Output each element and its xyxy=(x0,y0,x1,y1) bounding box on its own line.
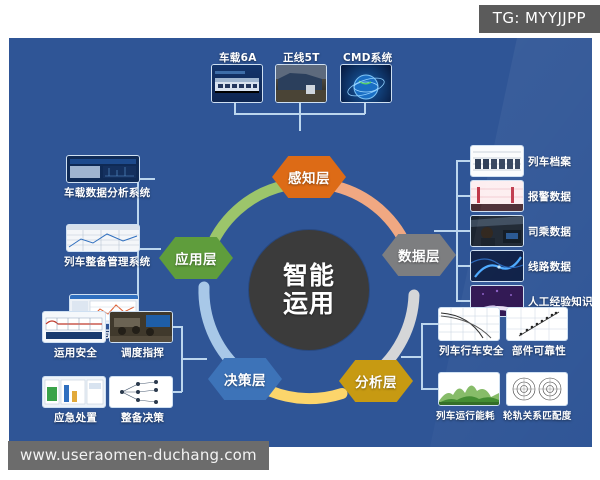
train-icon xyxy=(212,65,262,102)
thumbnail-component-reliability xyxy=(506,307,568,341)
connector-br-stem xyxy=(401,356,423,358)
connector-left-stem xyxy=(137,248,161,250)
connector-right-stem xyxy=(434,230,458,232)
node-label: 感知层 xyxy=(288,167,330,187)
thumbnail-art xyxy=(471,251,523,281)
curve-chart-icon xyxy=(439,308,499,340)
connector-top-stem xyxy=(299,113,301,131)
watermark-url: www.useraomen-duchang.com xyxy=(8,441,269,471)
thumbnail-train-running-safety xyxy=(438,307,500,341)
thumbnail-train-archive xyxy=(470,145,524,177)
radar-chart-icon xyxy=(507,373,567,405)
control-room-icon xyxy=(110,312,172,342)
ring-segment-yellow-arc xyxy=(270,391,342,399)
area-chart-icon xyxy=(439,373,499,405)
thumbnail-cmd-system xyxy=(340,64,392,103)
thumbnail-train-servicing-mgmt xyxy=(66,224,140,252)
thumbnail-art xyxy=(110,312,172,342)
caption-servicing-decision: 整备决策 xyxy=(121,410,164,425)
thumbnail-art xyxy=(439,308,499,340)
caption-cmd-system: CMD系统 xyxy=(343,50,392,65)
diagram-panel: 智能 运用 感知层 应用层 数据层 决策层 分析层 xyxy=(9,38,592,447)
thumbnail-art xyxy=(471,146,523,176)
caption-component-reliability: 部件可靠性 xyxy=(512,343,566,358)
thumbnail-operation-safety xyxy=(42,311,106,343)
thumbnail-emergency-response xyxy=(42,376,106,408)
center-label: 智能 运用 xyxy=(283,262,335,318)
thumbnail-onboard-6a xyxy=(211,64,263,103)
thumbnail-art xyxy=(67,225,139,251)
connector-br-1 xyxy=(421,323,439,325)
caption-operation-safety: 运用安全 xyxy=(54,345,97,360)
thumbnail-line-data xyxy=(470,250,524,282)
alarm-chart-icon xyxy=(471,181,523,211)
caption-train-archive: 列车档案 xyxy=(528,154,571,169)
thumbnail-art xyxy=(43,312,105,342)
caption-line-data: 线路数据 xyxy=(528,259,571,274)
caption-train-energy-consumption: 列车运行能耗 xyxy=(436,408,495,422)
thumbnail-art xyxy=(110,377,172,407)
node-label: 决策层 xyxy=(224,369,266,389)
connector-right-5 xyxy=(456,300,470,302)
thumbnail-art xyxy=(507,373,567,405)
caption-train-running-safety: 列车行车安全 xyxy=(439,343,504,358)
route-map-icon xyxy=(471,251,523,281)
connector-bl-stem xyxy=(181,358,207,360)
caption-crew-data: 司乘数据 xyxy=(528,224,571,239)
dashboard-icon xyxy=(43,377,105,407)
thumbnail-alarm-data xyxy=(470,180,524,212)
spreadsheet-icon xyxy=(67,225,139,251)
thumbnail-art xyxy=(276,65,326,102)
connector-right-1 xyxy=(456,160,470,162)
thumbnail-train-energy-consumption xyxy=(438,372,500,406)
caption-emergency-response: 应急处置 xyxy=(54,410,97,425)
thumbnail-art xyxy=(43,377,105,407)
caption-wheel-rail-matching: 轮轨关系匹配度 xyxy=(503,408,572,422)
thumbnail-art xyxy=(439,373,499,405)
caption-train-servicing-mgmt: 列车整备管理系统 xyxy=(64,254,150,269)
connector-right-2 xyxy=(456,195,470,197)
thumbnail-art xyxy=(212,65,262,102)
center-label-line2: 运用 xyxy=(283,290,335,318)
thumbnail-art xyxy=(507,308,567,340)
caption-onboard-data-analysis: 车载数据分析系统 xyxy=(64,185,150,200)
thumbnail-mainline-5t xyxy=(275,64,327,103)
node-label: 应用层 xyxy=(175,248,217,268)
center-circle: 智能 运用 xyxy=(249,230,369,350)
diagram-canvas: 智能 运用 感知层 应用层 数据层 决策层 分析层 xyxy=(0,0,600,480)
data-screen-icon xyxy=(67,156,139,182)
caption-dispatch-command: 调度指挥 xyxy=(121,345,164,360)
connector-right-4 xyxy=(456,265,470,267)
train-diagram-icon xyxy=(43,312,105,342)
caption-onboard-6a: 车载6A xyxy=(219,50,257,65)
thumbnail-onboard-data-analysis xyxy=(66,155,140,183)
scatter-chart-icon xyxy=(507,308,567,340)
thumbnail-art xyxy=(471,216,523,246)
thumbnail-wheel-rail-matching xyxy=(506,372,568,406)
archive-table-icon xyxy=(471,146,523,176)
decision-network-icon xyxy=(110,377,172,407)
thumbnail-crew-data xyxy=(470,215,524,247)
caption-alarm-data: 报警数据 xyxy=(528,189,571,204)
connector-br-2 xyxy=(421,388,439,390)
caption-mainline-5t: 正线5T xyxy=(283,50,320,65)
node-label: 分析层 xyxy=(355,371,397,391)
thumbnail-art xyxy=(471,181,523,211)
thumbnail-dispatch-command xyxy=(109,311,173,343)
locomotive-icon xyxy=(276,65,326,102)
cab-driver-icon xyxy=(471,216,523,246)
node-label: 数据层 xyxy=(398,245,440,265)
globe-icon xyxy=(341,65,391,102)
ring-segment-blue-arc xyxy=(204,287,238,369)
connector-right-3 xyxy=(456,230,470,232)
tg-tag-badge: TG: MYYJJPP xyxy=(479,5,600,33)
center-label-line1: 智能 xyxy=(283,262,335,290)
thumbnail-servicing-decision xyxy=(109,376,173,408)
thumbnail-art xyxy=(67,156,139,182)
thumbnail-art xyxy=(341,65,391,102)
